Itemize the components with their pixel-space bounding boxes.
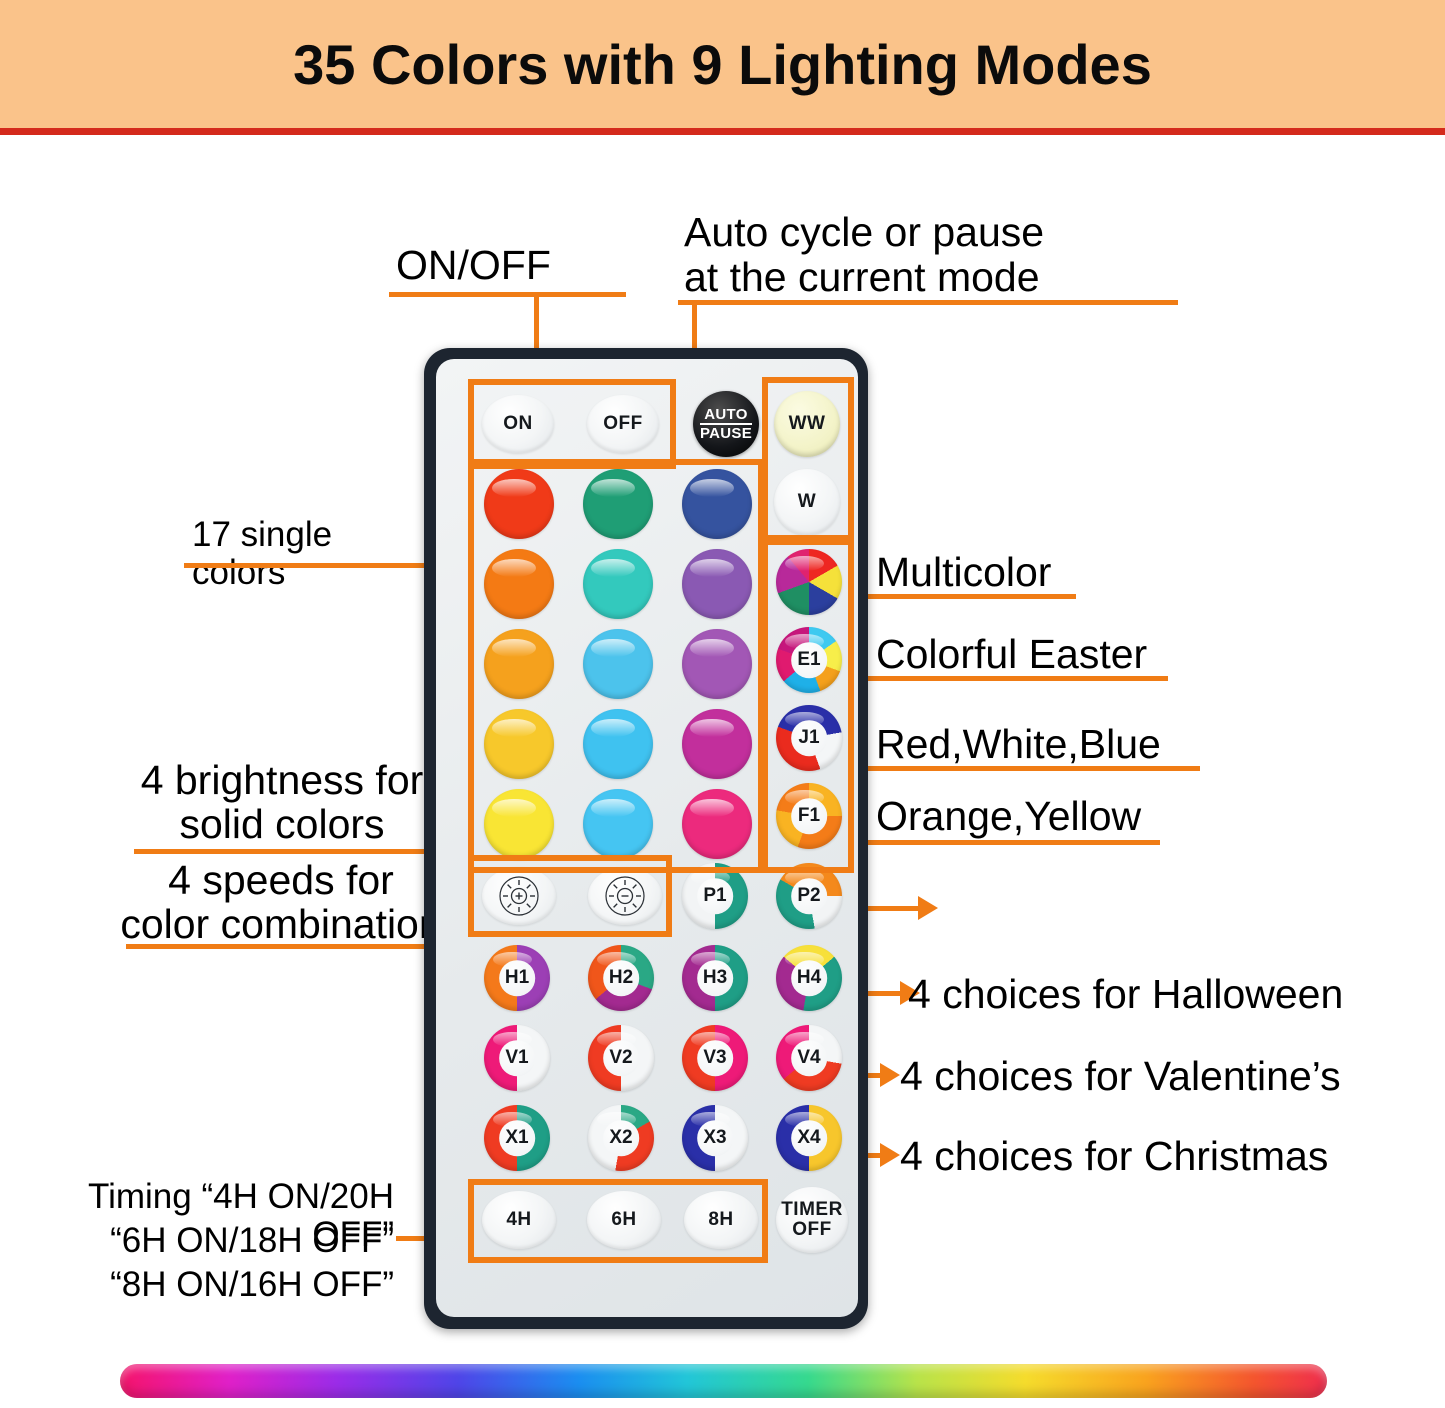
valentine-v3-button[interactable]: V3 xyxy=(682,1025,748,1091)
leader-red-white-blue xyxy=(848,766,1200,771)
christmas-x3-button[interactable]: X3 xyxy=(682,1105,748,1171)
halloween-h3-button[interactable]: H3 xyxy=(682,945,748,1011)
remote-faceplate: ON OFF AUTO PAUSE WW W xyxy=(436,359,858,1317)
annotation-halloween: 4 choices for Halloween xyxy=(908,972,1343,1016)
banner-divider xyxy=(0,128,1445,135)
leader-multicolor xyxy=(852,594,1076,599)
valentine-v4-button[interactable]: V4 xyxy=(776,1025,842,1091)
annotation-red-white-blue: Red,White,Blue xyxy=(876,722,1161,766)
timer-off-button[interactable]: TIMER OFF xyxy=(776,1187,848,1253)
halloween-h1-button[interactable]: H1 xyxy=(484,945,550,1011)
leader-auto-pause-underline xyxy=(678,300,1178,305)
christmas-x1-button[interactable]: X1 xyxy=(484,1105,550,1171)
annotation-valentines: 4 choices for Valentine’s xyxy=(900,1054,1341,1098)
annotation-timing-line3: “8H ON/16H OFF” xyxy=(22,1266,394,1304)
annotation-auto-pause-line1: Auto cycle or pause xyxy=(684,210,1176,254)
leader-colorful-easter xyxy=(848,676,1168,681)
christmas-x2-button[interactable]: X2 xyxy=(588,1105,654,1171)
highlight-on-off xyxy=(468,379,676,469)
infographic-page: 35 Colors with 9 Lighting Modes ON/OFF A… xyxy=(0,0,1445,1408)
remote-control: ON OFF AUTO PAUSE WW W xyxy=(424,348,868,1329)
header-banner: 35 Colors with 9 Lighting Modes xyxy=(0,0,1445,128)
highlight-mode-column xyxy=(762,535,854,873)
annotation-speeds-line1: 4 speeds for xyxy=(126,858,436,902)
annotation-auto-pause-line2: at the current mode xyxy=(684,255,1176,299)
annotation-single-colors: 17 single colors xyxy=(192,516,428,592)
highlight-brightness xyxy=(468,855,672,937)
annotation-on-off: ON/OFF xyxy=(396,243,622,287)
valentine-v2-button[interactable]: V2 xyxy=(588,1025,654,1091)
halloween-h2-button[interactable]: H2 xyxy=(588,945,654,1011)
annotation-timing-line2: “6H ON/18H OFF” xyxy=(22,1222,394,1260)
leader-brightness xyxy=(134,849,454,854)
valentine-v1-button[interactable]: V1 xyxy=(484,1025,550,1091)
arrow-christmas-icon xyxy=(880,1143,900,1167)
annotation-multicolor: Multicolor xyxy=(876,550,1051,594)
annotation-orange-yellow: Orange,Yellow xyxy=(876,794,1141,838)
arrow-preset-icon xyxy=(918,896,938,920)
page-title: 35 Colors with 9 Lighting Modes xyxy=(293,32,1152,97)
highlight-white-modes xyxy=(762,377,854,545)
christmas-x4-button[interactable]: X4 xyxy=(776,1105,842,1171)
annotation-colorful-easter: Colorful Easter xyxy=(876,632,1147,676)
auto-pause-button[interactable]: AUTO PAUSE xyxy=(693,391,759,457)
halloween-h4-button[interactable]: H4 xyxy=(776,945,842,1011)
annotation-speeds-line2: color combination xyxy=(120,902,442,946)
arrow-valentines-icon xyxy=(880,1063,900,1087)
annotation-christmas: 4 choices for Christmas xyxy=(900,1134,1328,1178)
leader-on-off-underline xyxy=(389,292,626,297)
leader-single-colors xyxy=(184,563,452,568)
highlight-single-colors xyxy=(468,459,764,873)
leader-orange-yellow xyxy=(848,840,1160,845)
highlight-timer xyxy=(468,1179,768,1263)
annotation-brightness-line1: 4 brightness for xyxy=(136,758,428,802)
leader-speeds xyxy=(126,944,456,949)
annotation-brightness-line2: solid colors xyxy=(136,802,428,846)
rainbow-led-strip xyxy=(120,1364,1327,1398)
